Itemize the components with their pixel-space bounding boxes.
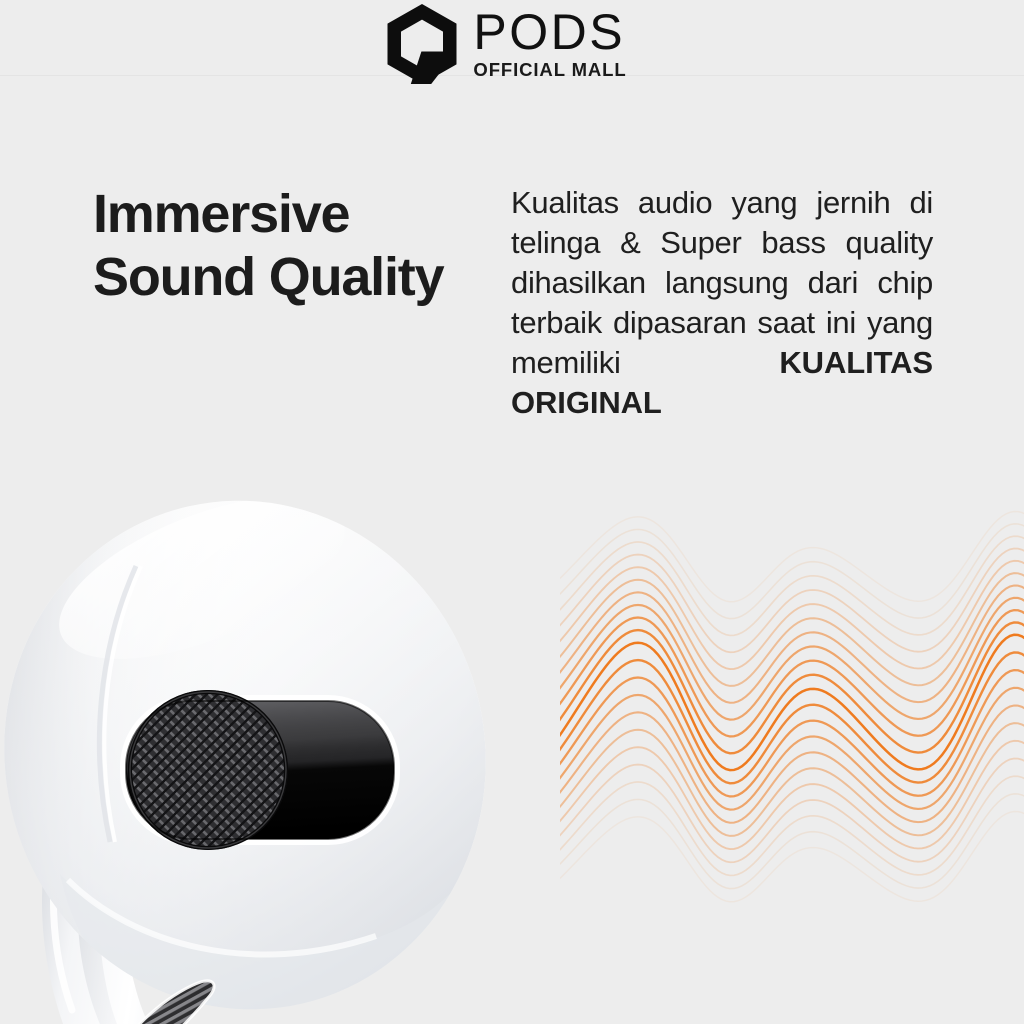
pods-hexagon-q-logo-icon xyxy=(385,4,459,84)
poster-canvas: PODS OFFICIAL MALL Immersive Sound Quali… xyxy=(0,0,1024,1024)
brand-subtitle: OFFICIAL MALL xyxy=(473,61,626,80)
page-headline: Immersive Sound Quality xyxy=(93,183,493,308)
audio-waveform-graphic xyxy=(560,500,1024,930)
waveform-line xyxy=(560,741,1024,849)
waveform-line xyxy=(560,561,1024,669)
brand-name: PODS xyxy=(473,8,625,56)
brand-header: PODS OFFICIAL MALL xyxy=(0,0,1024,76)
waveform-line xyxy=(560,524,1024,619)
waveform-line xyxy=(560,759,1024,863)
brand-lockup: PODS OFFICIAL MALL xyxy=(385,4,626,84)
body-paragraph: Kualitas audio yang jernih di telinga & … xyxy=(511,183,933,463)
waveform-line xyxy=(560,598,1024,720)
earbud-product-image xyxy=(0,470,560,1024)
waveform-line xyxy=(560,549,1024,653)
waveform-line xyxy=(560,812,1024,902)
brand-wordmark: PODS OFFICIAL MALL xyxy=(473,8,626,80)
earbud-microphone-grille xyxy=(120,688,400,852)
